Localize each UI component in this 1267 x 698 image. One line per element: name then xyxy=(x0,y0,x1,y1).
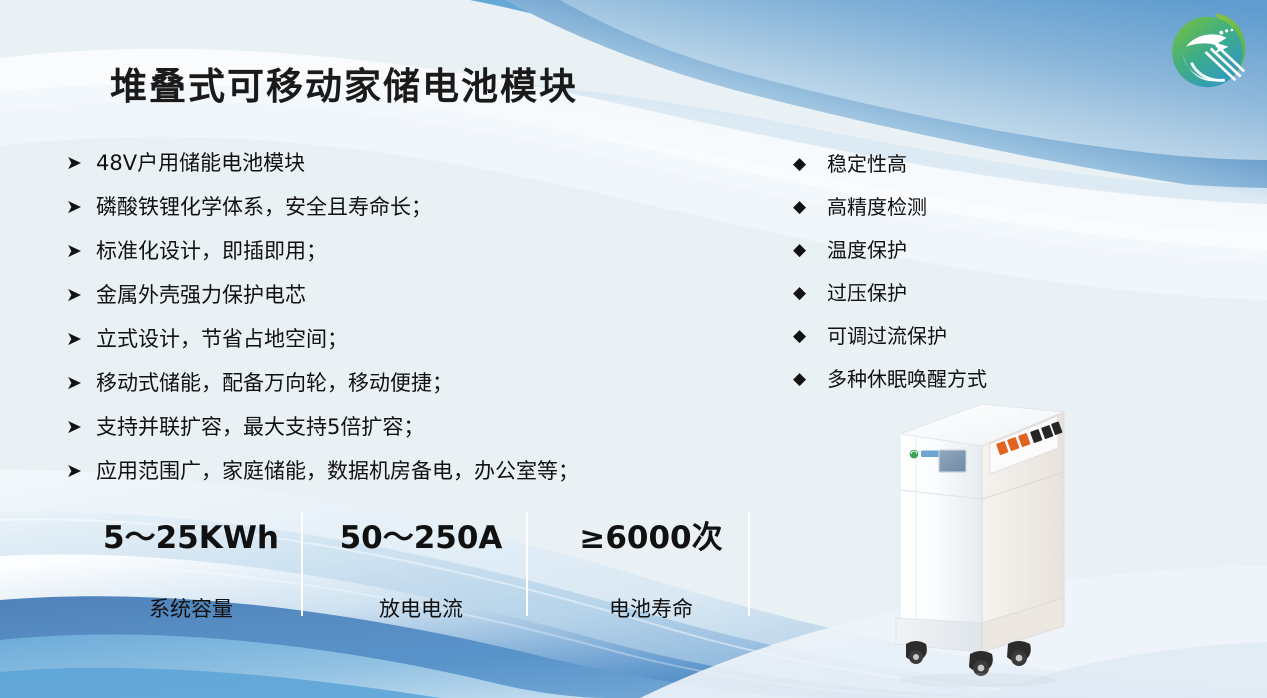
list-item: ➤ 移动式储能，配备万向轮，移动便捷； xyxy=(66,368,726,412)
list-item: ◆ 温度保护 xyxy=(793,236,1093,279)
feature-text: 可调过流保护 xyxy=(827,322,947,351)
arrow-bullet-icon: ➤ xyxy=(66,236,96,266)
stat-value: 5〜25KWh xyxy=(103,512,279,557)
stat-discharge-current: 50〜250A 放电电流 xyxy=(306,512,536,618)
left-feature-list: ➤ 48V户用储能电池模块 ➤ 磷酸铁锂化学体系，安全且寿命长； ➤ 标准化设计… xyxy=(66,148,726,500)
feature-text: 支持并联扩容，最大支持5倍扩容； xyxy=(96,412,424,442)
arrow-bullet-icon: ➤ xyxy=(66,412,96,442)
stat-divider xyxy=(301,512,303,616)
feature-text: 温度保护 xyxy=(827,236,907,265)
diamond-bullet-icon: ◆ xyxy=(793,322,827,351)
list-item: ➤ 支持并联扩容，最大支持5倍扩容； xyxy=(66,412,726,456)
arrow-bullet-icon: ➤ xyxy=(66,148,96,178)
diamond-bullet-icon: ◆ xyxy=(793,236,827,265)
stat-divider xyxy=(526,512,528,616)
list-item: ◆ 稳定性高 xyxy=(793,150,1093,193)
feature-text: 应用范围广，家庭储能，数据机房备电，办公室等； xyxy=(96,456,579,486)
slide-title: 堆叠式可移动家储电池模块 xyxy=(110,56,578,110)
list-item: ➤ 磷酸铁锂化学体系，安全且寿命长； xyxy=(66,192,726,236)
list-item: ◆ 高精度检测 xyxy=(793,193,1093,236)
feature-text: 多种休眠唤醒方式 xyxy=(827,365,987,394)
feature-text: 过压保护 xyxy=(827,279,907,308)
diamond-bullet-icon: ◆ xyxy=(793,365,827,394)
stat-value: ≥6000次 xyxy=(579,512,722,557)
feature-text: 标准化设计，即插即用； xyxy=(96,236,327,266)
arrow-bullet-icon: ➤ xyxy=(66,324,96,354)
feature-text: 移动式储能，配备万向轮，移动便捷； xyxy=(96,368,453,398)
list-item: ➤ 应用范围广，家庭储能，数据机房备电，办公室等； xyxy=(66,456,726,500)
stat-value: 50〜250A xyxy=(340,512,503,557)
arrow-bullet-icon: ➤ xyxy=(66,456,96,486)
feature-text: 稳定性高 xyxy=(827,150,907,179)
diamond-bullet-icon: ◆ xyxy=(793,279,827,308)
list-item: ◆ 可调过流保护 xyxy=(793,322,1093,365)
list-item: ➤ 48V户用储能电池模块 xyxy=(66,148,726,192)
feature-text: 48V户用储能电池模块 xyxy=(96,148,305,178)
stat-label: 系统容量 xyxy=(149,593,233,623)
list-item: ➤ 金属外壳强力保护电芯 xyxy=(66,280,726,324)
arrow-bullet-icon: ➤ xyxy=(66,280,96,310)
slide-canvas: 堆叠式可移动家储电池模块 ➤ 48V户用储能电池模块 ➤ 磷酸铁锂化学体系，安全… xyxy=(0,0,1267,698)
product-image-battery-cabinet xyxy=(878,392,1118,692)
list-item: ➤ 标准化设计，即插即用； xyxy=(66,236,726,280)
list-item: ➤ 立式设计，节省占地空间； xyxy=(66,324,726,368)
feature-text: 金属外壳强力保护电芯 xyxy=(96,280,306,310)
brand-logo-icon xyxy=(1163,8,1255,96)
stat-divider xyxy=(748,512,750,616)
diamond-bullet-icon: ◆ xyxy=(793,193,827,222)
feature-text: 磷酸铁锂化学体系，安全且寿命长； xyxy=(96,192,432,222)
list-item: ◆ 过压保护 xyxy=(793,279,1093,322)
stat-label: 电池寿命 xyxy=(609,593,693,623)
feature-text: 高精度检测 xyxy=(827,193,927,222)
stat-label: 放电电流 xyxy=(379,593,463,623)
key-specs-row: 5〜25KWh 系统容量 50〜250A 放电电流 ≥6000次 电池寿命 xyxy=(76,512,766,618)
stat-cycle-life: ≥6000次 电池寿命 xyxy=(536,512,766,618)
right-feature-list: ◆ 稳定性高 ◆ 高精度检测 ◆ 温度保护 ◆ 过压保护 ◆ 可调过流保护 ◆ … xyxy=(793,150,1093,408)
arrow-bullet-icon: ➤ xyxy=(66,192,96,222)
diamond-bullet-icon: ◆ xyxy=(793,150,827,179)
feature-text: 立式设计，节省占地空间； xyxy=(96,324,348,354)
arrow-bullet-icon: ➤ xyxy=(66,368,96,398)
stat-capacity: 5〜25KWh 系统容量 xyxy=(76,512,306,618)
